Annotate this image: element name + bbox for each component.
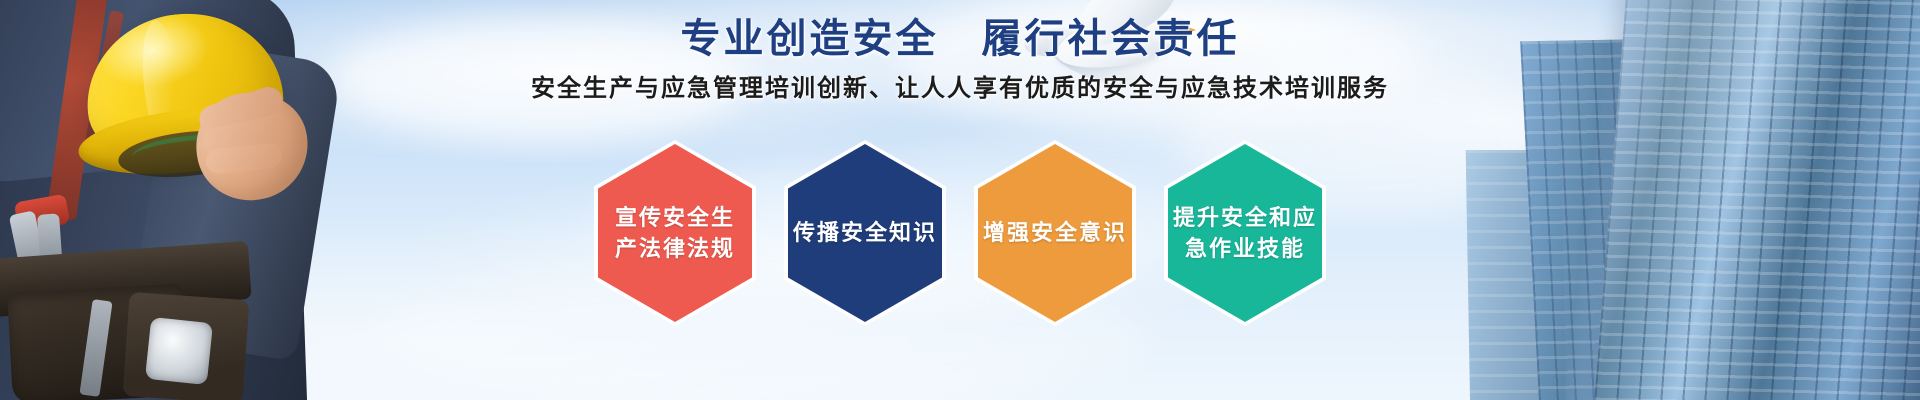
badge-hexagon-2-fill: 传播安全知识 bbox=[788, 144, 942, 322]
badge-hexagon-3[interactable]: 增强安全意识 bbox=[974, 140, 1136, 326]
banner-subtitle: 安全生产与应急管理培训创新、让人人享有优质的安全与应急技术培训服务 bbox=[0, 68, 1920, 103]
badge-hexagon-4-fill: 提升安全和应 急作业技能 bbox=[1168, 144, 1322, 322]
badge-hexagon-1-fill: 宣传安全生 产法律法规 bbox=[598, 144, 752, 322]
tape-measure-icon bbox=[145, 317, 213, 385]
badge-hexagon-1[interactable]: 宣传安全生 产法律法规 bbox=[594, 140, 756, 326]
badge-hexagon-1-line1: 宣传安全生 bbox=[615, 205, 735, 230]
badge-hexagon-3-line1: 增强安全意识 bbox=[983, 220, 1127, 245]
banner-headline: 专业创造安全 履行社会责任 bbox=[0, 6, 1920, 64]
badge-hexagon-2[interactable]: 传播安全知识 bbox=[784, 140, 946, 326]
badge-hexagon-4-line2: 急作业技能 bbox=[1185, 236, 1305, 261]
badge-hexagon-4[interactable]: 提升安全和应 急作业技能 bbox=[1164, 140, 1326, 326]
badge-hexagon-3-fill: 增强安全意识 bbox=[978, 144, 1132, 322]
badge-hexagon-2-line1: 传播安全知识 bbox=[793, 220, 937, 245]
badge-hexagon-4-line1: 提升安全和应 bbox=[1173, 205, 1317, 230]
badge-hexagon-1-line2: 产法律法规 bbox=[615, 236, 735, 261]
safety-training-banner: 专业创造安全 履行社会责任 安全生产与应急管理培训创新、让人人享有优质的安全与应… bbox=[0, 0, 1920, 400]
badge-row: 宣传安全生 产法律法规 传播安全知识 增强安全意识 提升安全和应 急作业技能 bbox=[0, 140, 1920, 326]
